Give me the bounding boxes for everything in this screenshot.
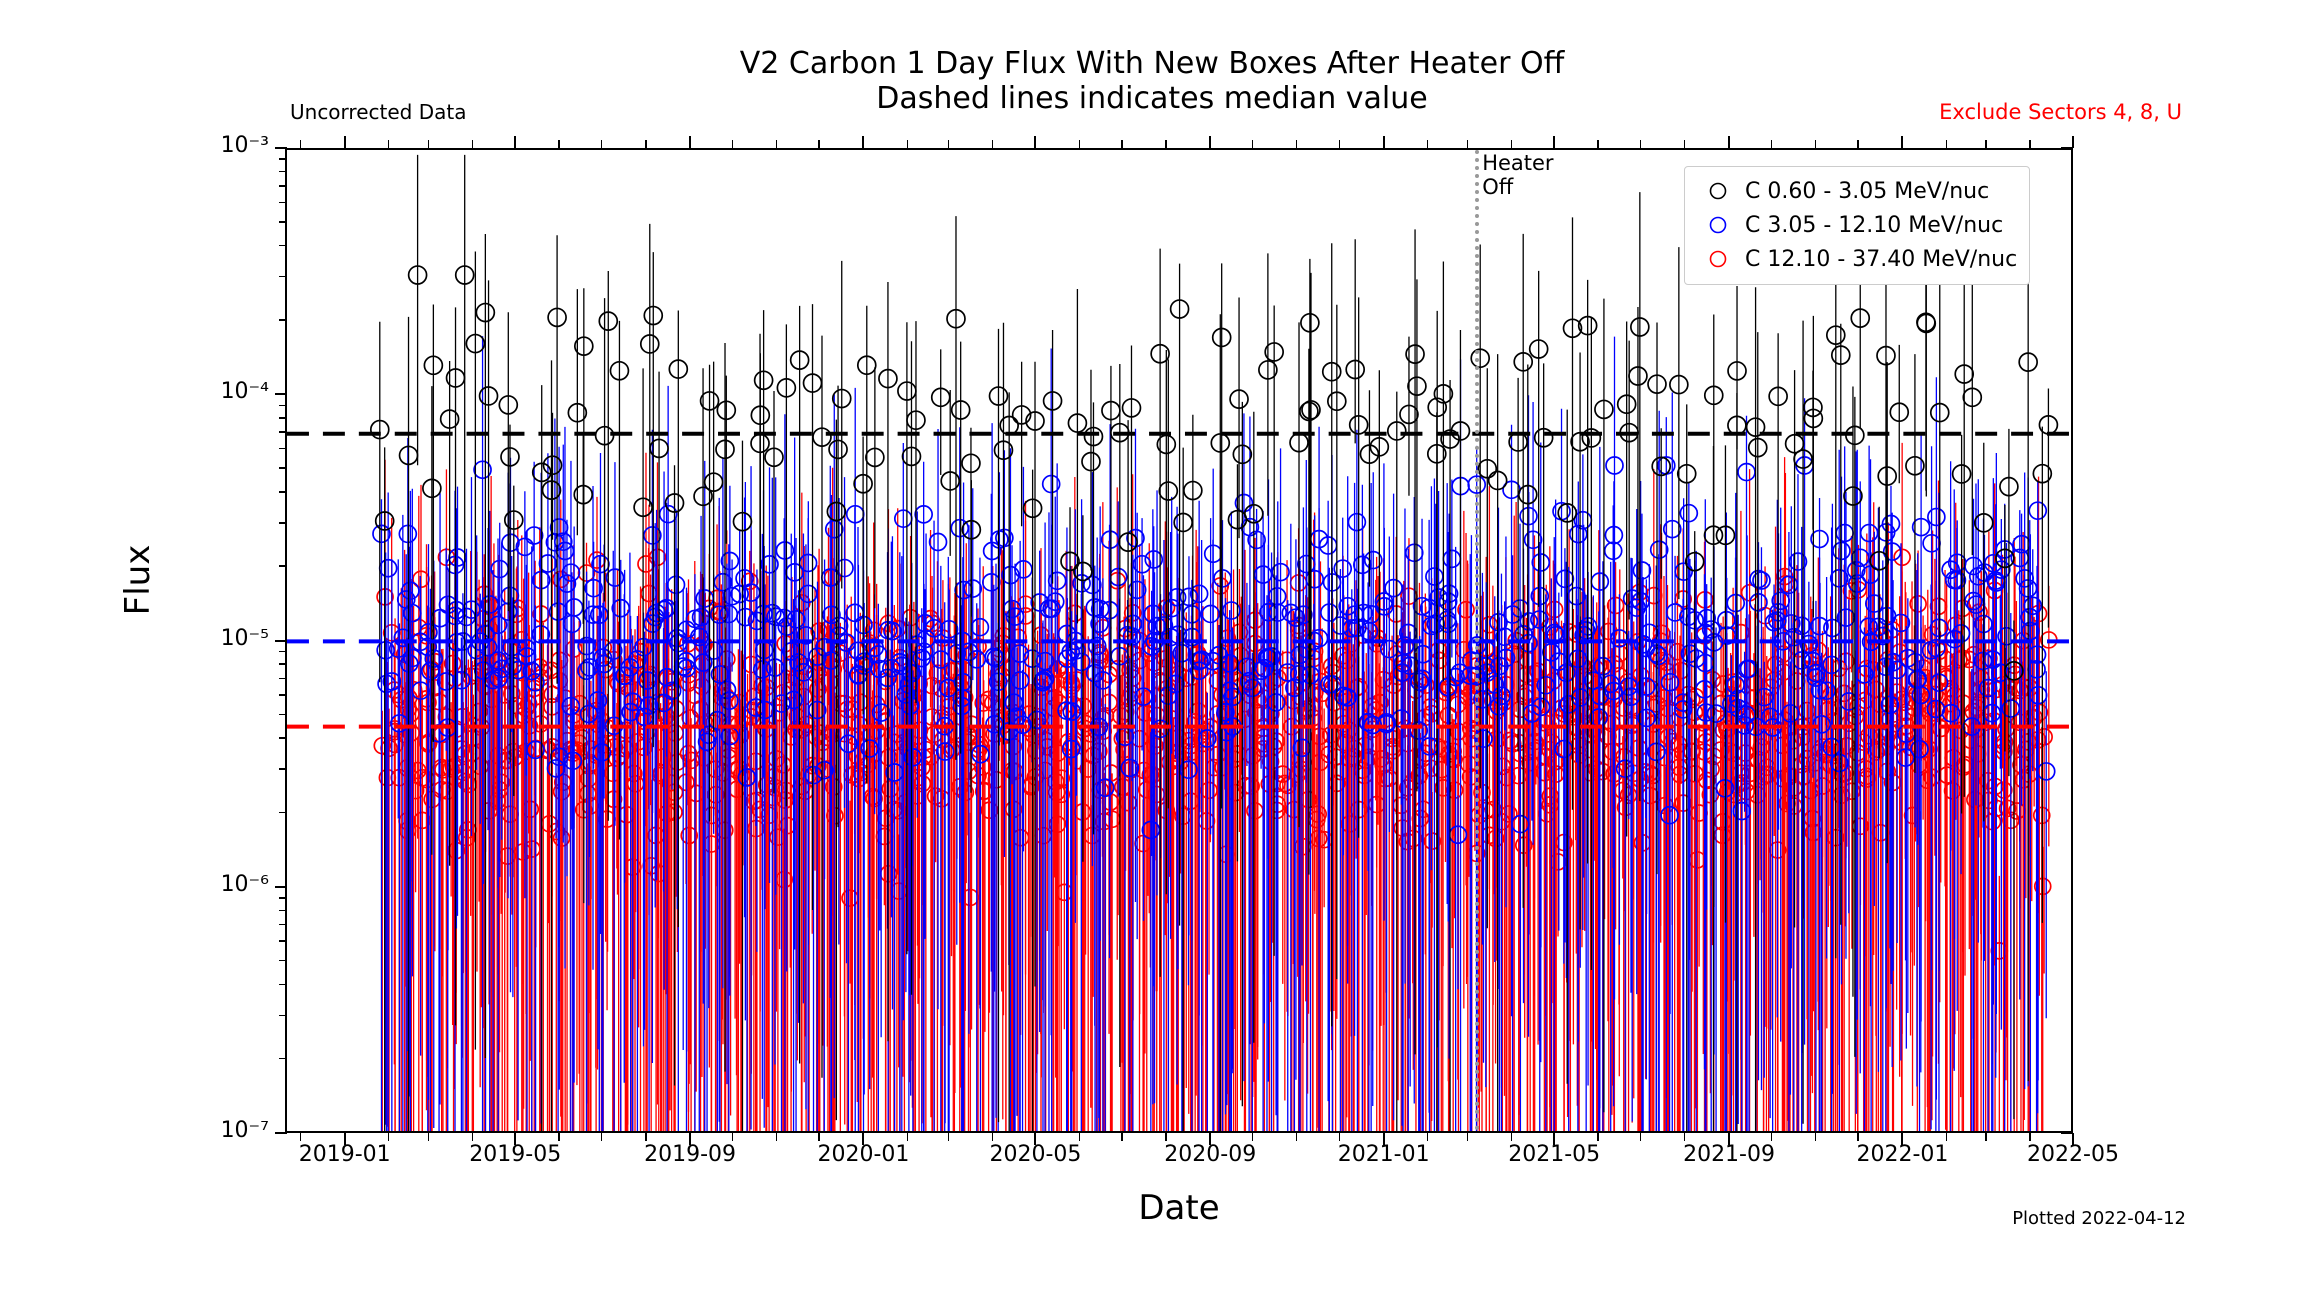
x-tick-minor-top <box>1165 140 1167 148</box>
x-tick-minor-top <box>1467 140 1469 148</box>
x-tick-major-top <box>1728 136 1730 148</box>
x-tick-major-top <box>1209 136 1211 148</box>
heater-off-label-line2: Off <box>1482 176 1553 200</box>
figure-canvas: V2 Carbon 1 Day Flux With New Boxes Afte… <box>0 0 2304 1296</box>
legend-label-1: C 3.05 - 12.10 MeV/nuc <box>1739 213 2003 238</box>
y-tick-label: 10⁻³ <box>0 133 285 158</box>
x-tick-minor-top <box>1597 140 1599 148</box>
x-tick-minor-top <box>1857 140 1859 148</box>
x-tick-minor-top <box>776 140 778 148</box>
x-tick-minor-top <box>992 140 994 148</box>
x-tick-minor <box>1597 1133 1599 1141</box>
x-tick-label: 2020-05 <box>989 1142 1081 1167</box>
legend-item-0[interactable]: C 0.60 - 3.05 MeV/nuc <box>1697 174 2017 208</box>
x-tick-major-top <box>514 136 516 148</box>
x-tick-minor-top <box>1684 140 1686 148</box>
x-tick-minor <box>907 1133 909 1141</box>
x-tick-minor <box>388 1133 390 1141</box>
data-series-canvas <box>287 150 2071 1133</box>
x-tick-minor <box>428 1133 430 1141</box>
y-tick-label: 10⁻⁶ <box>0 872 285 897</box>
x-tick-minor <box>1684 1133 1686 1141</box>
x-tick-minor-top <box>1771 140 1773 148</box>
x-tick-minor <box>992 1133 994 1141</box>
x-tick-minor-top <box>2029 140 2031 148</box>
x-axis-label: Date <box>285 1188 2073 1228</box>
x-tick-major-top <box>1383 136 1385 148</box>
y-axis-label: Flux <box>118 430 158 730</box>
x-tick-minor-top <box>1339 140 1341 148</box>
x-tick-minor <box>645 1133 647 1141</box>
x-tick-minor-top <box>1296 140 1298 148</box>
x-tick-minor <box>2029 1133 2031 1141</box>
x-tick-minor <box>1296 1133 1298 1141</box>
x-tick-minor-top <box>1640 140 1642 148</box>
x-tick-minor <box>1121 1133 1123 1141</box>
chart-title-line1: V2 Carbon 1 Day Flux With New Boxes Afte… <box>0 46 2304 81</box>
x-tick-minor <box>1339 1133 1341 1141</box>
x-tick-major-top <box>1901 136 1903 148</box>
x-tick-label: 2022-01 <box>1856 1142 1948 1167</box>
x-tick-minor-top <box>907 140 909 148</box>
x-tick-minor-top <box>388 140 390 148</box>
y-tick-label: 10⁻⁷ <box>0 1118 285 1143</box>
x-tick-minor <box>300 1133 302 1141</box>
x-tick-minor-top <box>1427 140 1429 148</box>
x-tick-label: 2021-05 <box>1508 1142 1600 1167</box>
x-tick-minor-top <box>428 140 430 148</box>
legend-circle-icon-2 <box>1697 248 1739 270</box>
x-tick-minor-top <box>601 140 603 148</box>
x-tick-minor-top <box>300 140 302 148</box>
heater-off-label: Heater Off <box>1482 152 1553 199</box>
x-tick-minor-top <box>1079 140 1081 148</box>
x-tick-minor-top <box>645 140 647 148</box>
x-tick-minor <box>732 1133 734 1141</box>
x-tick-minor-top <box>948 140 950 148</box>
x-tick-minor-top <box>1252 140 1254 148</box>
x-tick-major-top <box>344 136 346 148</box>
x-tick-minor-top <box>1815 140 1817 148</box>
legend-label-2: C 12.10 - 37.40 MeV/nuc <box>1739 247 2017 272</box>
x-tick-minor <box>776 1133 778 1141</box>
x-tick-minor-top <box>472 140 474 148</box>
x-tick-major-top <box>862 136 864 148</box>
x-tick-minor <box>1467 1133 1469 1141</box>
x-tick-label: 2021-09 <box>1683 1142 1775 1167</box>
x-tick-minor-top <box>558 140 560 148</box>
x-tick-minor <box>1946 1133 1948 1141</box>
x-tick-label: 2022-05 <box>2027 1142 2119 1167</box>
x-tick-minor <box>1252 1133 1254 1141</box>
x-tick-major-top <box>1553 136 1555 148</box>
exclude-sectors-note: Exclude Sectors 4, 8, U <box>1939 100 2182 124</box>
x-tick-minor-top <box>1946 140 1948 148</box>
x-tick-minor <box>1771 1133 1773 1141</box>
x-tick-label: 2019-01 <box>299 1142 391 1167</box>
legend-item-2[interactable]: C 12.10 - 37.40 MeV/nuc <box>1697 242 2017 276</box>
legend-circle-icon-0 <box>1697 180 1739 202</box>
x-tick-minor-top <box>818 140 820 148</box>
x-tick-major-top <box>1034 136 1036 148</box>
legend[interactable]: C 0.60 - 3.05 MeV/nuc C 3.05 - 12.10 MeV… <box>1684 166 2030 285</box>
x-tick-label: 2019-09 <box>644 1142 736 1167</box>
x-tick-minor-top <box>1121 140 1123 148</box>
heater-off-label-line1: Heater <box>1482 152 1553 176</box>
legend-label-0: C 0.60 - 3.05 MeV/nuc <box>1739 179 1989 204</box>
x-tick-major-top <box>689 136 691 148</box>
heater-off-marker-line <box>1475 150 1479 1131</box>
uncorrected-data-note: Uncorrected Data <box>290 100 466 124</box>
x-tick-label: 2020-01 <box>818 1142 910 1167</box>
x-tick-label: 2019-05 <box>469 1142 561 1167</box>
y-tick-label: 10⁻⁴ <box>0 379 285 404</box>
x-tick-minor <box>1815 1133 1817 1141</box>
x-tick-minor <box>1079 1133 1081 1141</box>
plotted-date-note: Plotted 2022-04-12 <box>2012 1208 2186 1229</box>
x-tick-minor <box>1640 1133 1642 1141</box>
x-tick-minor-top <box>1985 140 1987 148</box>
x-tick-major-top <box>2072 136 2074 148</box>
x-tick-minor <box>1511 1133 1513 1141</box>
x-tick-minor-top <box>1511 140 1513 148</box>
x-tick-label: 2021-01 <box>1338 1142 1430 1167</box>
x-tick-minor <box>1165 1133 1167 1141</box>
x-tick-minor <box>948 1133 950 1141</box>
plot-area: Heater Off <box>285 148 2073 1133</box>
x-tick-minor <box>1985 1133 1987 1141</box>
legend-circle-icon-1 <box>1697 214 1739 236</box>
x-tick-minor <box>1427 1133 1429 1141</box>
x-tick-minor <box>558 1133 560 1141</box>
x-tick-minor <box>601 1133 603 1141</box>
x-tick-minor <box>1857 1133 1859 1141</box>
x-tick-label: 2020-09 <box>1164 1142 1256 1167</box>
legend-item-1[interactable]: C 3.05 - 12.10 MeV/nuc <box>1697 208 2017 242</box>
y-tick-label: 10⁻⁵ <box>0 626 285 651</box>
x-tick-minor <box>472 1133 474 1141</box>
x-tick-minor <box>818 1133 820 1141</box>
x-tick-minor-top <box>732 140 734 148</box>
